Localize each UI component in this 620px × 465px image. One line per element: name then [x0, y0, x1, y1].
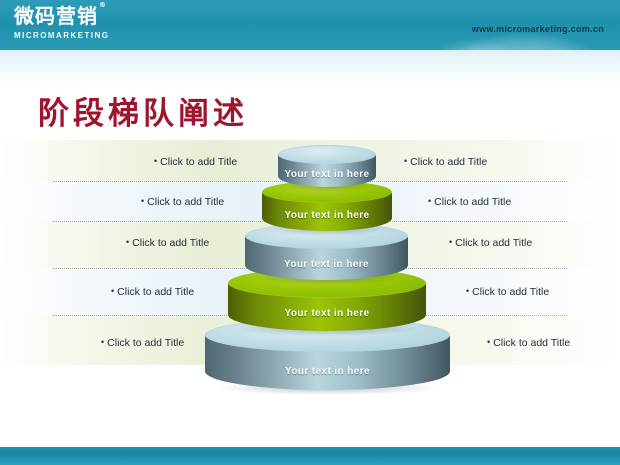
footer-bar	[0, 447, 620, 465]
left-label-5[interactable]: •Click to add Title	[101, 333, 184, 380]
bullet-icon: •	[404, 156, 407, 166]
bullet-icon: •	[487, 337, 490, 347]
registered-trademark-icon: ®	[99, 1, 107, 9]
right-label-4[interactable]: •Click to add Title	[466, 282, 549, 329]
left-label-3-text: Click to add Title	[132, 237, 209, 249]
right-label-4-text: Click to add Title	[472, 286, 549, 298]
logo-chinese-label: 微码营销	[14, 4, 98, 28]
left-label-3[interactable]: •Click to add Title	[126, 233, 209, 280]
header-gradient-fade	[0, 50, 620, 84]
left-label-4[interactable]: •Click to add Title	[111, 282, 194, 329]
header-bar: 微码营销® MICROMARKETING www.micromarketing.…	[0, 0, 620, 50]
label-row-5: •Click to add Title •Click to add Title	[0, 333, 620, 380]
label-row-4: •Click to add Title •Click to add Title	[0, 282, 620, 329]
bullet-icon: •	[101, 337, 104, 347]
left-label-4-text: Click to add Title	[117, 286, 194, 298]
left-label-2-text: Click to add Title	[147, 196, 224, 208]
label-row-3: •Click to add Title •Click to add Title	[0, 233, 620, 280]
right-label-2[interactable]: •Click to add Title	[428, 192, 511, 239]
right-label-3-text: Click to add Title	[455, 237, 532, 249]
bullet-icon: •	[449, 237, 452, 247]
left-label-2[interactable]: •Click to add Title	[141, 192, 224, 239]
bullet-icon: •	[154, 156, 157, 166]
website-url-label[interactable]: www.micromarketing.com.cn	[472, 24, 604, 34]
layer-pyramid-diagram: Your text in here Your text in here Your…	[0, 140, 620, 400]
right-label-2-text: Click to add Title	[434, 196, 511, 208]
right-label-5[interactable]: •Click to add Title	[487, 333, 570, 380]
right-label-1-text: Click to add Title	[410, 156, 487, 168]
left-label-5-text: Click to add Title	[107, 337, 184, 349]
bullet-icon: •	[111, 286, 114, 296]
bullet-icon: •	[466, 286, 469, 296]
page-title: 阶段梯队阐述	[38, 88, 248, 133]
left-label-1-text: Click to add Title	[160, 156, 237, 168]
bullet-icon: •	[126, 237, 129, 247]
brand-logo[interactable]: 微码营销® MICROMARKETING	[14, 6, 109, 40]
right-label-3[interactable]: •Click to add Title	[449, 233, 532, 280]
label-row-2: •Click to add Title •Click to add Title	[0, 192, 620, 239]
bullet-icon: •	[141, 196, 144, 206]
logo-english-label: MICROMARKETING	[14, 32, 109, 40]
logo-chinese-text: 微码营销®	[14, 6, 106, 26]
right-label-5-text: Click to add Title	[493, 337, 570, 349]
bullet-icon: •	[428, 196, 431, 206]
